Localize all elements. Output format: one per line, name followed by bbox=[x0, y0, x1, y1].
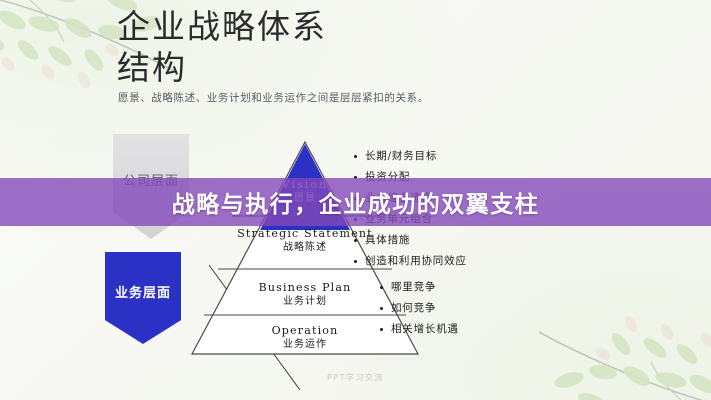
slide-subtitle: 愿景、战略陈述、业务计划和业务运作之间是层层紧扣的关系。 bbox=[118, 90, 429, 105]
headline-banner-text: 战略与执行，企业成功的双翼支柱 bbox=[172, 185, 540, 219]
list-item: 哪里竞争 bbox=[378, 277, 572, 298]
footer-watermark: PPT学习交流 bbox=[0, 372, 711, 383]
headline-banner: 战略与执行，企业成功的双翼支柱 bbox=[0, 178, 711, 226]
bullet-list-sub: 哪里竞争 如何竞争 相关增长机遇 bbox=[378, 277, 572, 340]
presentation-slide: 企业战略体系 结构 愿景、战略陈述、业务计划和业务运作之间是层层紧扣的关系。 公… bbox=[0, 0, 711, 400]
slide-title-line-2: 结构 bbox=[117, 47, 327, 88]
slide-title: 企业战略体系 结构 bbox=[117, 6, 327, 88]
bullet-list-panel: 长期/财务目标 投资分配 业务组合选择 业务单元组合 具体措施 创造和利用协同效… bbox=[352, 146, 572, 340]
list-item: 长期/财务目标 bbox=[352, 146, 572, 167]
list-item: 如何竞争 bbox=[378, 298, 572, 319]
slide-title-line-1: 企业战略体系 bbox=[117, 7, 327, 46]
list-item: 相关增长机遇 bbox=[378, 319, 572, 340]
level-chevron-business-label: 业务层面 bbox=[115, 282, 171, 301]
list-item: 创造和利用协同效应 bbox=[352, 251, 572, 272]
list-item: 具体措施 bbox=[352, 230, 572, 251]
level-chevron-business[interactable]: 业务层面 bbox=[105, 252, 181, 344]
